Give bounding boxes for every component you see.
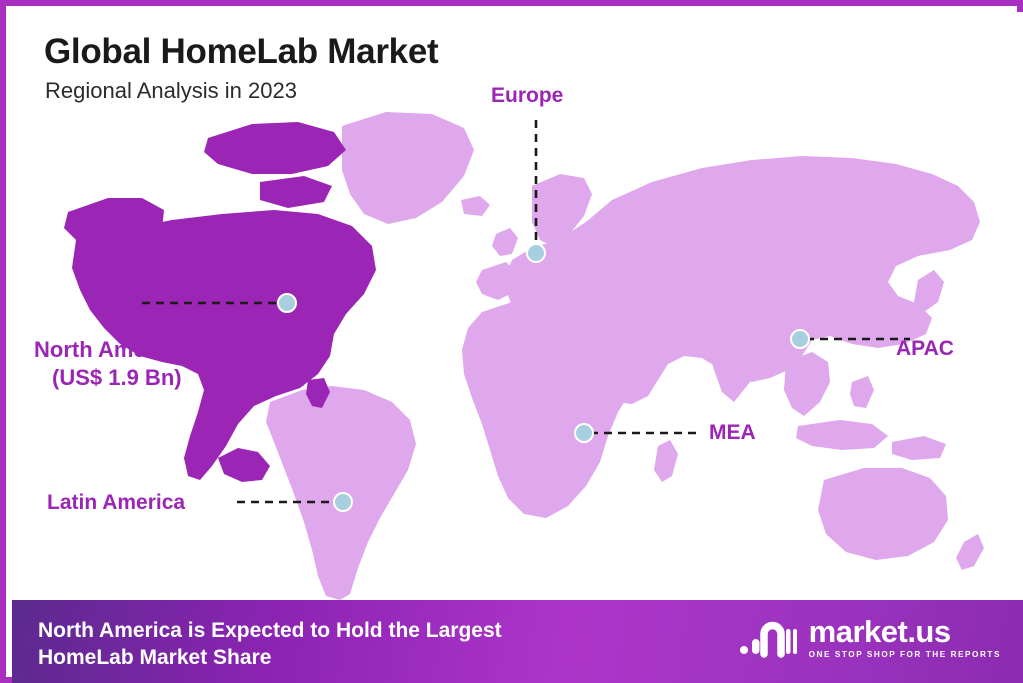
infographic-frame: Global HomeLab Market Regional Analysis … <box>0 0 1023 683</box>
logo-brand-name: market.us <box>809 616 1001 647</box>
marker-latin-america[interactable] <box>334 493 352 511</box>
region-label-europe: Europe <box>491 84 563 108</box>
region-british-isles <box>492 228 518 256</box>
region-iceland <box>461 196 490 216</box>
banner-headline-line2: HomeLab Market Share <box>38 644 502 671</box>
logo-tagline: ONE STOP SHOP FOR THE REPORTS <box>809 650 1001 659</box>
marker-north-america[interactable] <box>278 294 296 312</box>
region-australia <box>818 468 948 560</box>
region-new-guinea <box>892 436 946 460</box>
region-new-zealand <box>956 534 984 570</box>
banner-headline-line1: North America is Expected to Hold the La… <box>38 617 502 644</box>
region-label-latin-america: Latin America <box>47 491 185 515</box>
region-label-apac: APAC <box>896 337 954 361</box>
region-value-north-america: (US$ 1.9 Bn) <box>52 365 182 391</box>
region-africa <box>462 302 656 518</box>
infographic-body: Global HomeLab Market Regional Analysis … <box>12 12 1023 683</box>
region-indonesia <box>796 420 888 450</box>
marker-apac[interactable] <box>791 330 809 348</box>
region-greenland <box>342 112 474 224</box>
region-arctic-island-2 <box>260 176 332 208</box>
region-southeast-asia <box>784 352 830 416</box>
region-label-mea: MEA <box>709 421 756 445</box>
region-japan <box>914 270 944 312</box>
brand-logo[interactable]: market.us ONE STOP SHOP FOR THE REPORTS <box>739 616 1001 659</box>
page-title: Global HomeLab Market <box>44 32 438 72</box>
region-india <box>708 326 762 402</box>
marker-europe[interactable] <box>527 244 545 262</box>
region-canadian-arctic <box>204 122 346 174</box>
market-us-logo-icon <box>739 617 797 659</box>
banner-headline: North America is Expected to Hold the La… <box>38 617 502 671</box>
map-landmasses-base <box>266 112 984 600</box>
footer-banner: North America is Expected to Hold the La… <box>12 600 1023 683</box>
region-central-america <box>218 448 270 482</box>
region-label-north-america: North America <box>34 337 185 363</box>
logo-text: market.us ONE STOP SHOP FOR THE REPORTS <box>809 616 1001 659</box>
marker-mea[interactable] <box>575 424 593 442</box>
region-madagascar <box>654 440 678 482</box>
region-philippines <box>850 376 874 408</box>
